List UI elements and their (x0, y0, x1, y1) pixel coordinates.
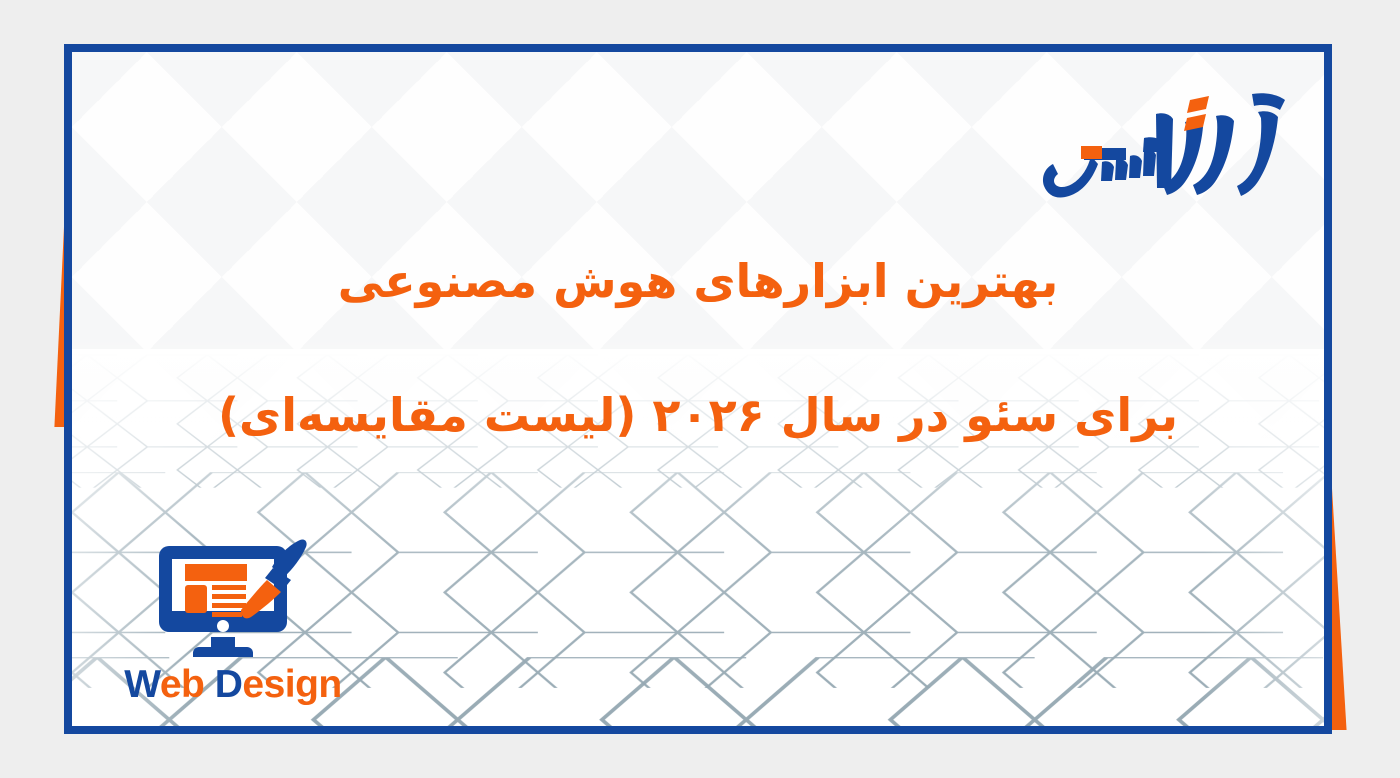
headline-line-1: بهترین ابزارهای هوش مصنوعی (72, 257, 1324, 305)
web-design-label: Web Design (118, 665, 348, 704)
web-design-badge[interactable]: Web Design (118, 538, 348, 704)
cover-canvas: بهترین ابزارهای هوش مصنوعی برای سئو در س… (0, 0, 1400, 778)
label-part-eb: eb (160, 663, 215, 706)
page-title: بهترین ابزارهای هوش مصنوعی برای سئو در س… (72, 257, 1324, 440)
monitor-with-paintbrush-icon (155, 538, 311, 663)
label-part-w: W (124, 663, 160, 706)
label-part-d: D (215, 663, 243, 706)
headline-line-2: برای سئو در سال ۲۰۲۶ (لیست مقایسه‌ای) (72, 391, 1324, 439)
arzarasaneh-logo[interactable] (1040, 76, 1300, 206)
label-part-esign: esign (242, 663, 341, 706)
cover-card-frame: بهترین ابزارهای هوش مصنوعی برای سئو در س… (64, 44, 1332, 734)
